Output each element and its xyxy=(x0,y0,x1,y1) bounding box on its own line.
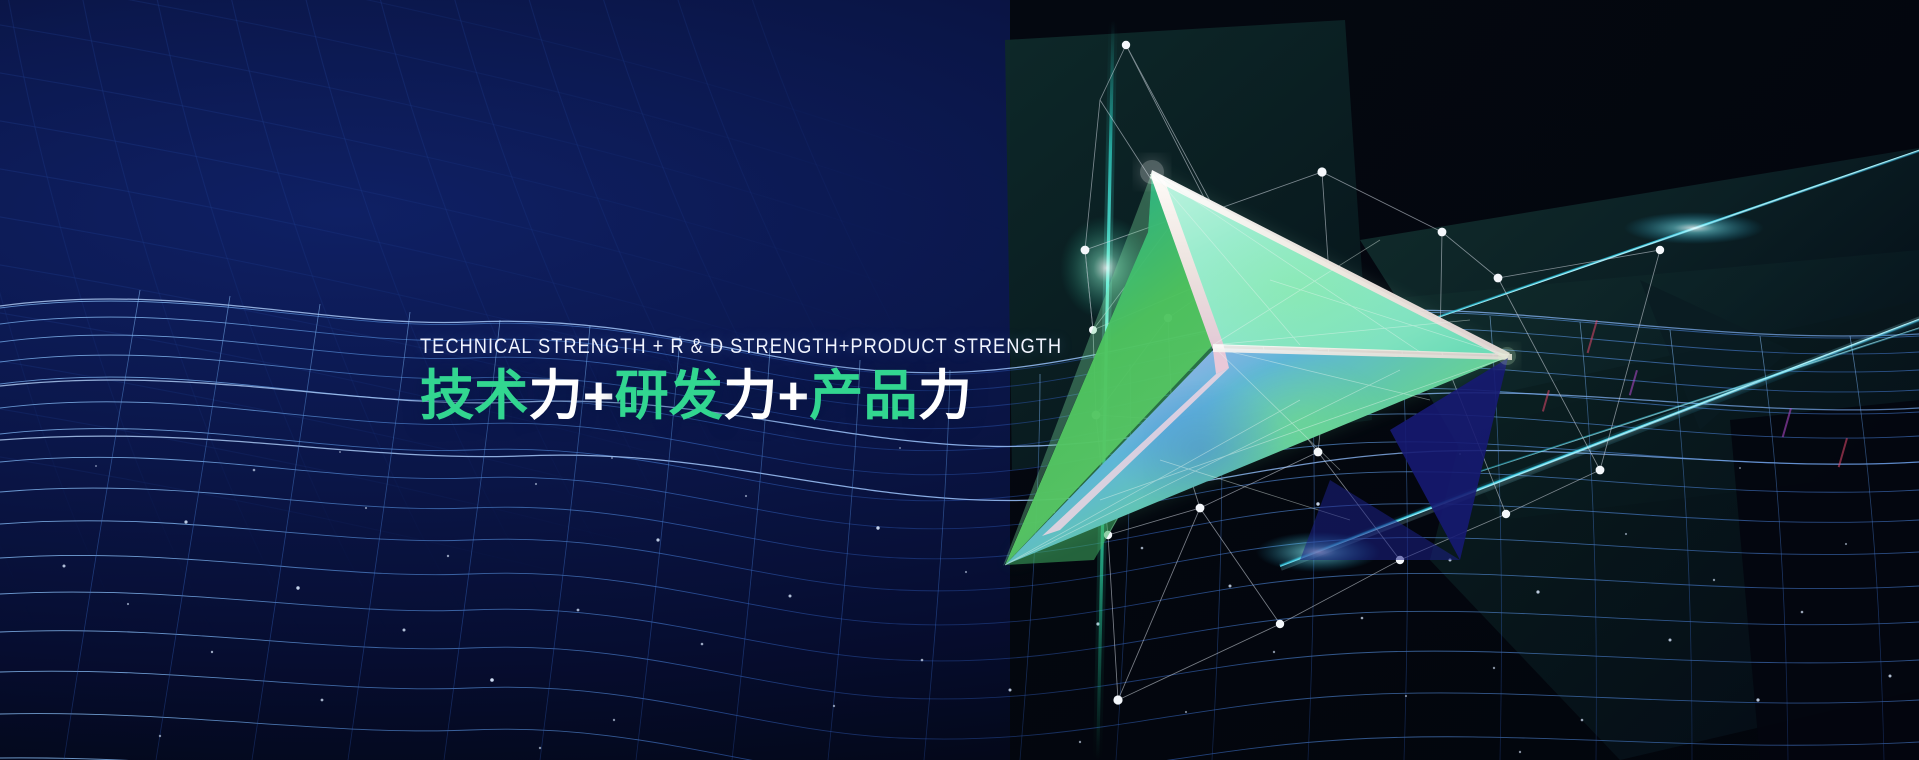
headline-seg-1: 力 xyxy=(529,366,583,426)
hero-banner: TECHNICAL STRENGTH + R & D STRENGTH+PROD… xyxy=(0,0,1919,760)
headline-seg-2: + xyxy=(583,366,615,426)
copy-block: TECHNICAL STRENGTH + R & D STRENGTH+PROD… xyxy=(420,336,1040,424)
headline-seg-7: 力 xyxy=(918,366,972,426)
eyebrow-text: TECHNICAL STRENGTH + R & D STRENGTH+PROD… xyxy=(420,336,959,357)
headline-seg-6: 产品 xyxy=(809,366,918,426)
headline-seg-3: 研发 xyxy=(615,366,724,426)
headline: 技术力+研发力+产品力 xyxy=(420,369,1040,424)
headline-seg-4: 力 xyxy=(723,366,777,426)
headline-seg-0: 技术 xyxy=(420,366,529,426)
headline-seg-5: + xyxy=(777,366,809,426)
